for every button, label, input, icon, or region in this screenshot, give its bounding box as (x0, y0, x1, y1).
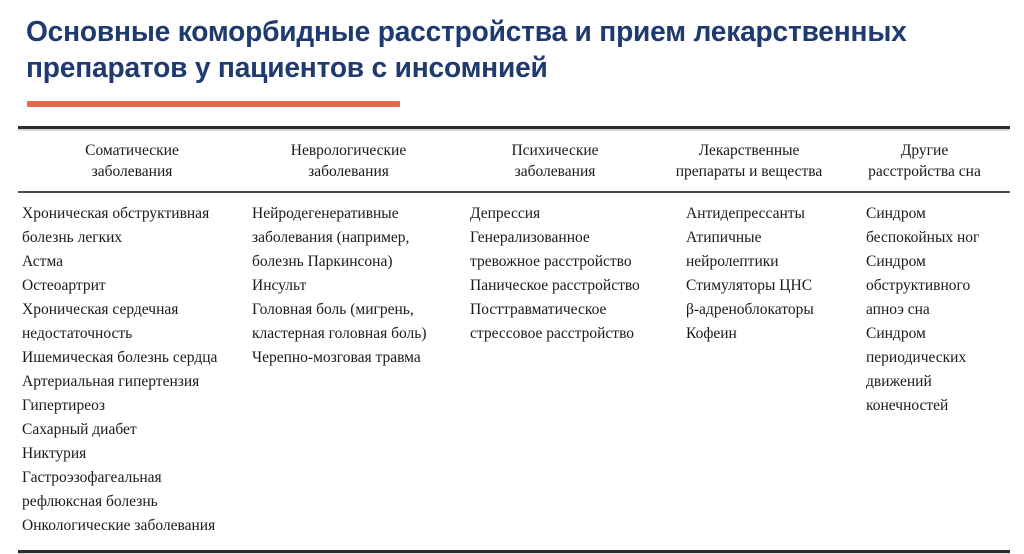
list-item: Стимуляторы ЦНС (686, 274, 829, 298)
slide: Основные коморбидные расстройства и прие… (0, 0, 1024, 554)
list-item: Черепно-мозговая травма (252, 346, 441, 370)
list-item: Инсульт (252, 274, 441, 298)
column-header-neurological-line-1: Неврологические (252, 140, 445, 161)
list-item: β-адреноблокаторы (686, 298, 829, 322)
list-item: Кофеин (686, 322, 829, 346)
column-header-medications-line-1: Лекарственные (665, 140, 833, 161)
list-item: Синдром беспокойных ног (866, 202, 1000, 250)
list-item: Хроническая сердечная недостаточность (22, 298, 236, 346)
list-item: Никтурия (22, 442, 236, 466)
title-accent-bar (27, 101, 400, 107)
column-header-somatic: Соматические заболевания (18, 140, 246, 182)
column-header-medications-line-2: препараты и вещества (665, 161, 833, 182)
list-item: Онкологические заболевания (22, 514, 236, 538)
list-item: Ишемическая болезнь сердца (22, 346, 236, 370)
table-cell-somatic: Хроническая обструктивная болезнь легких… (18, 202, 246, 538)
list-item: Артериальная гипертензия (22, 370, 236, 394)
list-item: Антидепрессанты (686, 202, 829, 226)
list-item: Синдром периодических движений конечност… (866, 322, 1000, 418)
list-item: Нейродегенеративные заболевания (наприме… (252, 202, 441, 274)
table-cell-medications: Антидепрессанты Атипичные нейролептики С… (659, 202, 839, 346)
column-header-neurological-line-2: заболевания (252, 161, 445, 182)
column-header-somatic-line-1: Соматические (24, 140, 240, 161)
list-item: Сахарный диабет (22, 418, 236, 442)
column-header-psychiatric: Психические заболевания (451, 140, 659, 182)
list-item: Атипичные нейролептики (686, 226, 829, 274)
column-header-other-sleep-line-2: расстройства сна (845, 161, 1004, 182)
column-header-other-sleep-line-1: Другие (845, 140, 1004, 161)
list-item: Посттравматическое стрессовое расстройст… (470, 298, 649, 346)
page-title: Основные коморбидные расстройства и прие… (26, 14, 986, 86)
list-item: Астма (22, 250, 236, 274)
list-item: Головная боль (мигрень, кластерная голов… (252, 298, 441, 346)
table-header-row: Соматические заболевания Неврологические… (18, 129, 1010, 191)
table-bottom-rule (18, 550, 1010, 553)
list-item: Остеоартрит (22, 274, 236, 298)
table-cell-other-sleep: Синдром беспокойных ног Синдром обструкт… (839, 202, 1010, 418)
table-cell-psychiatric: Депрессия Генерализованное тревожное рас… (451, 202, 659, 346)
column-header-psychiatric-line-1: Психические (457, 140, 653, 161)
column-header-psychiatric-line-2: заболевания (457, 161, 653, 182)
column-header-neurological: Неврологические заболевания (246, 140, 451, 182)
list-item: Паническое расстройство (470, 274, 649, 298)
list-item: Гастроэзофагеальная рефлюксная болезнь (22, 466, 236, 514)
list-item: Генерализованное тревожное расстройство (470, 226, 649, 274)
column-header-other-sleep: Другие расстройства сна (839, 140, 1010, 182)
list-item: Синдром обструктивного апноэ сна (866, 250, 1000, 322)
column-header-somatic-line-2: заболевания (24, 161, 240, 182)
list-item: Гипертиреоз (22, 394, 236, 418)
list-item: Хроническая обструктивная болезнь легких (22, 202, 236, 250)
table-cell-neurological: Нейродегенеративные заболевания (наприме… (246, 202, 451, 370)
comorbidity-table: Соматические заболевания Неврологические… (18, 126, 1010, 553)
title-line-2: препаратов у пациентов с инсомнией (26, 50, 957, 86)
list-item: Депрессия (470, 202, 649, 226)
table-body-row: Хроническая обструктивная болезнь легких… (18, 193, 1010, 550)
title-line-1: Основные коморбидные расстройства и прие… (26, 14, 957, 50)
column-header-medications: Лекарственные препараты и вещества (659, 140, 839, 182)
